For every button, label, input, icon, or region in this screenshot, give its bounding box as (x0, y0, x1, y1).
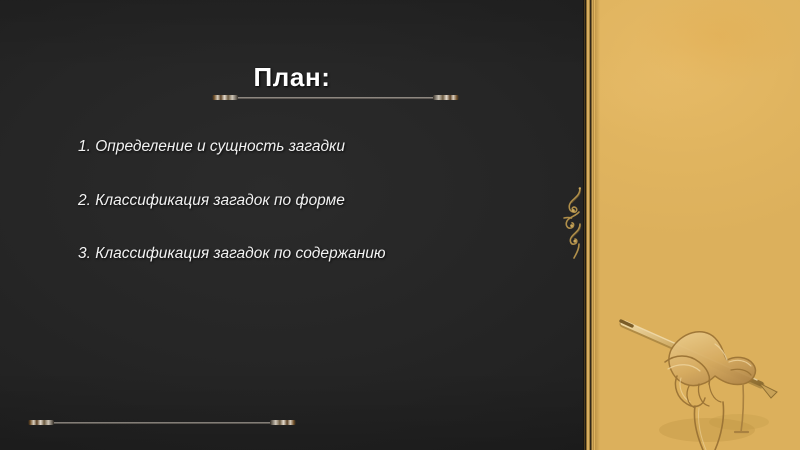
list-item: 2. Классификация загадок по форме (78, 192, 548, 211)
rule-left-ornament-icon (28, 420, 54, 425)
rule-right-ornament-icon (433, 95, 459, 100)
hand-holding-pen-illustration (611, 290, 800, 450)
bottom-divider-rule (28, 418, 296, 427)
panel-edge-shadow (595, 0, 600, 450)
list-item: 3. Классификация загадок по содержанию (78, 245, 548, 264)
title-divider-rule (212, 93, 459, 102)
list-item: 1. Определение и сущность загадки (78, 138, 548, 157)
filigree-ornament-icon (562, 186, 588, 260)
rule-line (238, 97, 433, 99)
rule-right-ornament-icon (270, 420, 296, 425)
page-title: План: (0, 62, 584, 93)
rule-line (54, 422, 270, 424)
gold-side-panel (595, 0, 800, 450)
rule-left-ornament-icon (212, 95, 238, 100)
slide-canvas: План: 1. Определение и сущность загадки … (0, 0, 800, 450)
plan-list: 1. Определение и сущность загадки 2. Кла… (78, 138, 548, 264)
